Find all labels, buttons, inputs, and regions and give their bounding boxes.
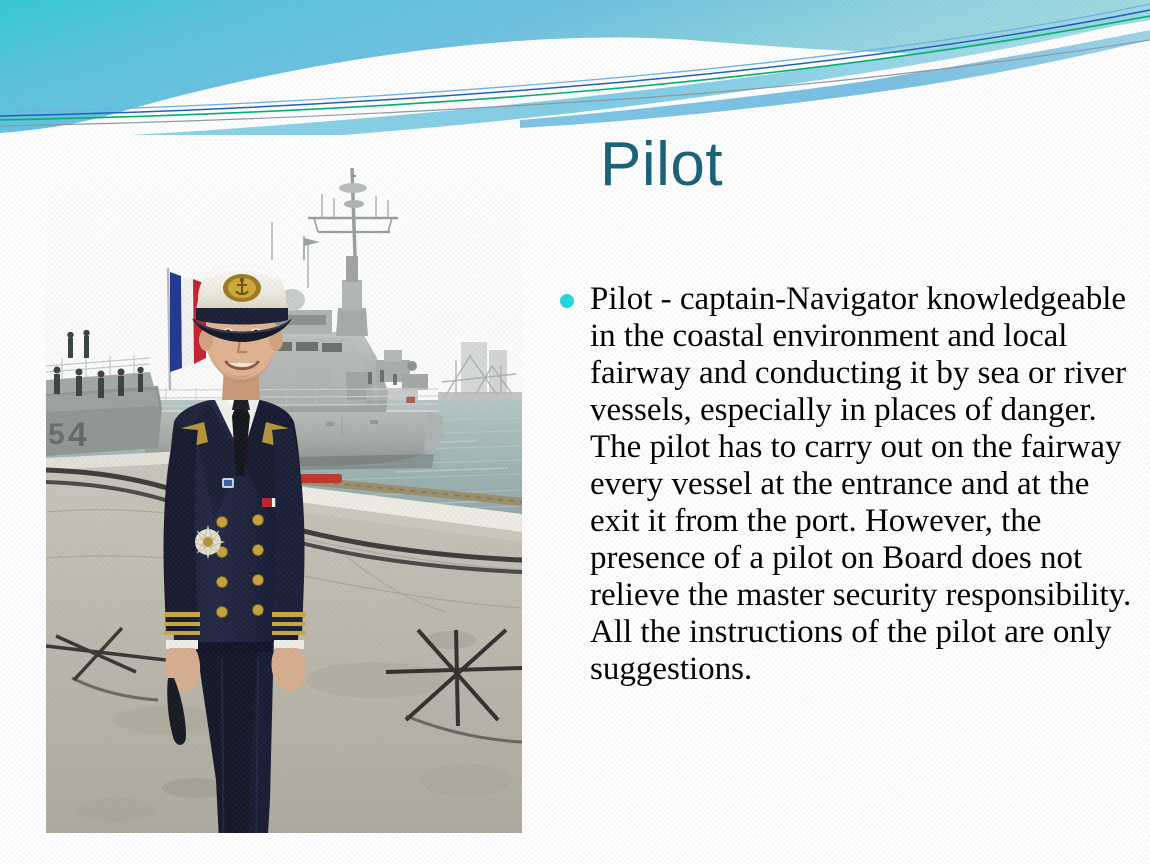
svg-text:5: 5: [48, 418, 65, 451]
page-title: Pilot: [600, 129, 1120, 201]
svg-text:4: 4: [68, 416, 87, 454]
flow-theme-header-swoosh: [0, 0, 1150, 135]
bullet-text: Pilot - captain-Navigator knowledgeable …: [590, 281, 1140, 688]
slide-photo: 4 5: [46, 160, 522, 833]
photo-illustration: 4 5: [46, 160, 522, 833]
bullet-dot-icon: [560, 294, 574, 308]
swoosh-svg: [0, 0, 1150, 135]
presentation-slide: 4 5: [0, 0, 1150, 864]
bullet-list-item: Pilot - captain-Navigator knowledgeable …: [560, 281, 1140, 688]
